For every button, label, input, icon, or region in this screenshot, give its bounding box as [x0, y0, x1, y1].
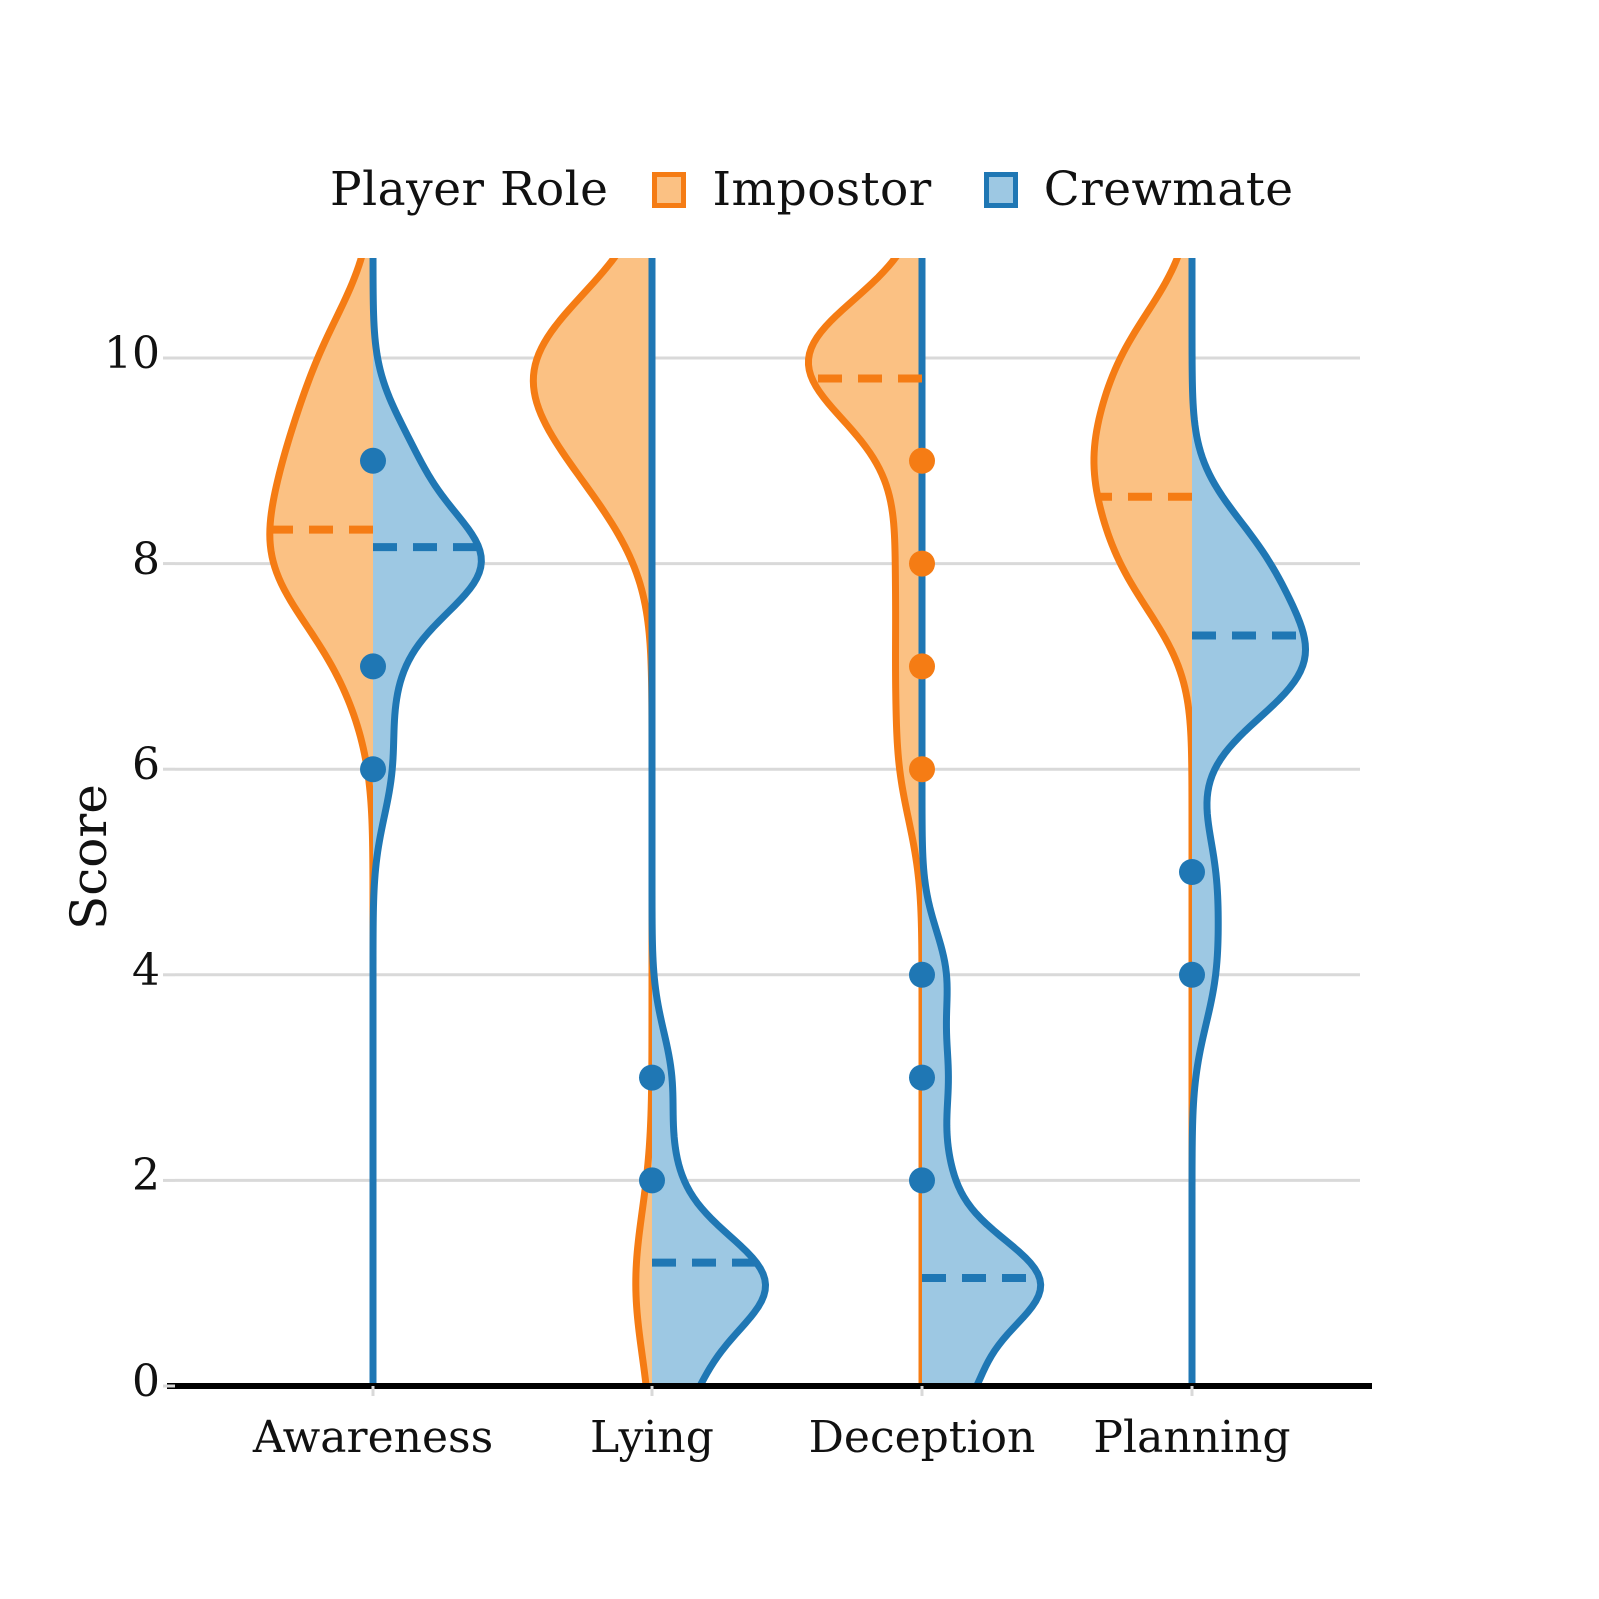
legend-title: Player Role — [330, 162, 608, 217]
y-tick-label: 10 — [60, 328, 160, 379]
y-tick-label: 6 — [60, 739, 160, 790]
violin-shapes — [270, 91, 1306, 1510]
data-point-planning-crewmate — [1179, 962, 1205, 988]
legend-entry-impostor[interactable]: Impostor — [652, 162, 931, 217]
violin-half-planning-impostor — [1094, 91, 1192, 1510]
y-tick-label: 2 — [60, 1150, 160, 1201]
legend-label-impostor: Impostor — [712, 162, 931, 217]
data-point-deception-impostor — [909, 551, 935, 577]
data-point-deception-impostor — [909, 448, 935, 474]
legend: Player Role Impostor Crewmate — [330, 162, 1294, 217]
data-point-deception-crewmate — [909, 1167, 935, 1193]
data-point-deception-impostor — [909, 653, 935, 679]
y-tick-label: 4 — [60, 945, 160, 996]
violin-half-lying-crewmate — [652, 91, 766, 1510]
x-tick-label-planning: Planning — [1022, 1412, 1362, 1463]
legend-swatch-crewmate — [984, 172, 1018, 208]
legend-swatch-impostor — [652, 172, 686, 208]
y-axis-label: Score — [60, 784, 118, 930]
violin-half-awareness-impostor — [270, 91, 373, 1510]
legend-entry-crewmate[interactable]: Crewmate — [984, 162, 1294, 217]
data-point-awareness-crewmate — [360, 756, 386, 782]
data-point-deception-crewmate — [909, 1065, 935, 1091]
legend-label-crewmate: Crewmate — [1044, 162, 1294, 217]
data-point-awareness-crewmate — [360, 448, 386, 474]
violin-outline-planning-crewmate — [1192, 91, 1306, 1510]
data-point-lying-crewmate — [639, 1167, 665, 1193]
y-tick-label: 8 — [60, 534, 160, 585]
violin-plot-canvas — [0, 0, 1599, 1599]
data-point-deception-crewmate — [909, 962, 935, 988]
data-point-planning-crewmate — [1179, 859, 1205, 885]
violin-outline-awareness-crewmate — [373, 91, 481, 1510]
data-point-awareness-crewmate — [360, 653, 386, 679]
data-point-deception-impostor — [909, 756, 935, 782]
data-point-lying-crewmate — [639, 1065, 665, 1091]
violin-half-deception-crewmate — [922, 91, 1041, 1510]
chart-page: Player Role Impostor Crewmate Score 0246… — [0, 0, 1599, 1599]
y-tick-label: 0 — [60, 1356, 160, 1407]
